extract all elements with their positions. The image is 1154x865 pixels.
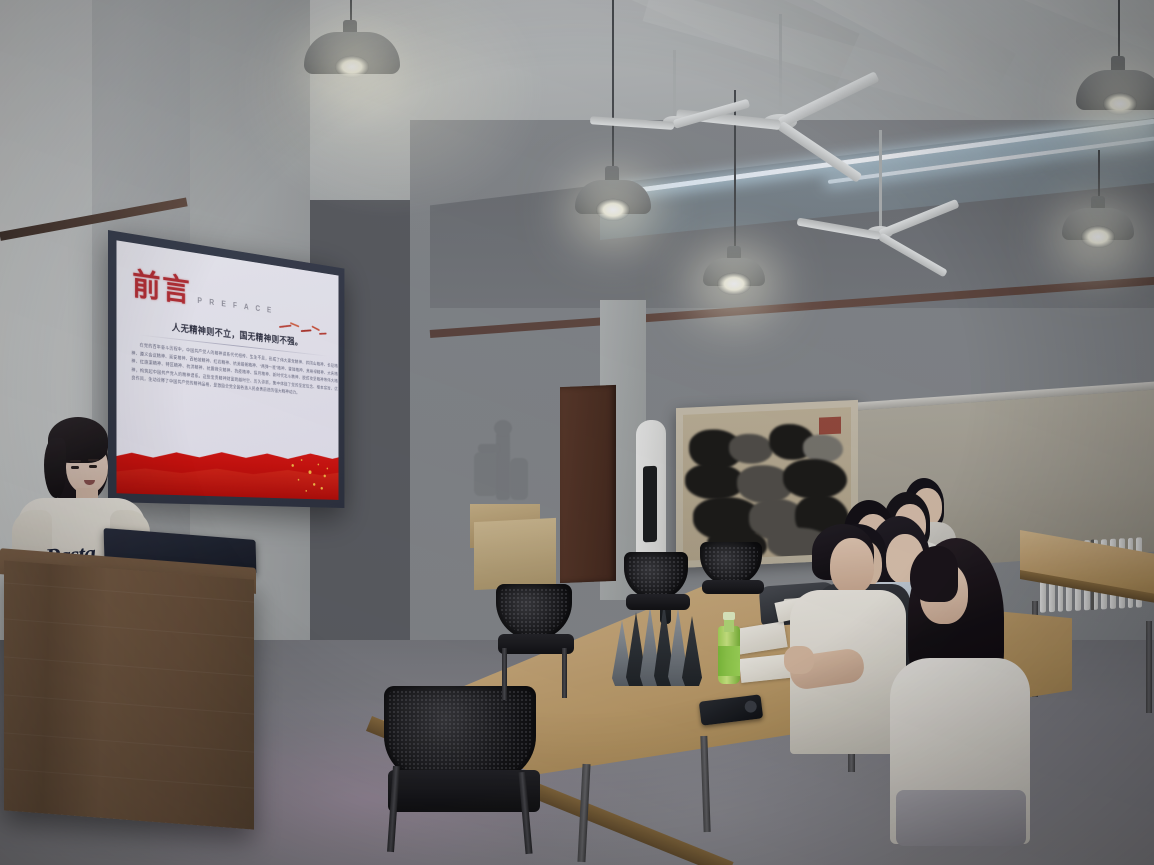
- chair-mesh-pattern: [704, 546, 758, 582]
- bottle-label: [718, 646, 740, 676]
- sculpture-figure-body: [496, 432, 510, 500]
- eye: [71, 466, 79, 469]
- slide-spark-particles: [287, 455, 334, 497]
- ink-brush-stroke: [729, 433, 773, 465]
- chair-leg: [502, 648, 507, 700]
- chair-seat: [702, 580, 764, 594]
- pendant-cord: [1098, 150, 1100, 202]
- sculpture-figure-head: [494, 420, 512, 436]
- fan-rod: [779, 14, 782, 118]
- wooden-podium: [4, 560, 254, 829]
- ac-vent: [643, 466, 657, 543]
- chair-mesh-pattern: [628, 556, 684, 596]
- eyebrow: [70, 460, 81, 462]
- fan-blade: [878, 199, 959, 239]
- classroom-scene: 前言 P R E F A C E 人无精神则不立，国无精神则不强。 在党的百年奋…: [0, 0, 1154, 865]
- chair-seat: [388, 770, 540, 812]
- student-front-female: [890, 538, 1030, 838]
- sculpture-detail: [510, 458, 528, 500]
- chair-seat: [626, 594, 690, 610]
- ink-brush-stroke: [685, 462, 745, 501]
- slide-title-chinese: 前言: [132, 269, 191, 307]
- fan-rod: [673, 50, 676, 120]
- chair-mid[interactable]: [496, 584, 586, 704]
- slide-body-text: 在党的百年奋斗历程中，中国共产党人的精神谱系代代相传、生生不息，形成了伟大建党精…: [131, 341, 337, 401]
- slide-title-english: P R E F A C E: [197, 296, 273, 317]
- hair-side: [44, 438, 66, 498]
- artist-red-seal: [819, 417, 841, 435]
- table-leg: [700, 736, 710, 832]
- chair-mesh-pattern: [500, 588, 568, 636]
- table-leg: [1146, 621, 1152, 713]
- ceiling-fan-3: [594, 50, 754, 150]
- fan-rod: [879, 130, 882, 230]
- pendant-light-2: [575, 180, 651, 214]
- eye: [89, 465, 97, 468]
- student-front-male: [790, 524, 906, 754]
- phone-camera-lens: [744, 700, 757, 713]
- fan-blade: [778, 71, 880, 128]
- head: [830, 538, 874, 594]
- pendant-light-1: [304, 32, 400, 74]
- chair-backrest: [624, 552, 688, 600]
- pendant-cord: [1118, 0, 1120, 62]
- hand: [784, 646, 814, 674]
- pendant-light-5: [1062, 208, 1134, 240]
- pendant-light-4: [1076, 70, 1154, 110]
- chair-foreground[interactable]: [378, 686, 558, 862]
- fan-blade: [673, 99, 750, 129]
- pendant-light-3: [703, 258, 765, 286]
- fan-blade: [590, 116, 674, 130]
- eyebrow: [88, 459, 99, 461]
- chair-backrest: [496, 584, 572, 640]
- ceiling-fan-2: [790, 130, 970, 240]
- hair-front-strand: [910, 546, 958, 602]
- sculpture-detail: [474, 452, 498, 496]
- skirt: [896, 790, 1026, 846]
- chair-leg: [562, 648, 567, 698]
- chair-back-left[interactable]: [624, 552, 702, 648]
- chair-back-right[interactable]: [700, 542, 776, 632]
- slide-title-row: 前言 P R E F A C E: [132, 269, 274, 318]
